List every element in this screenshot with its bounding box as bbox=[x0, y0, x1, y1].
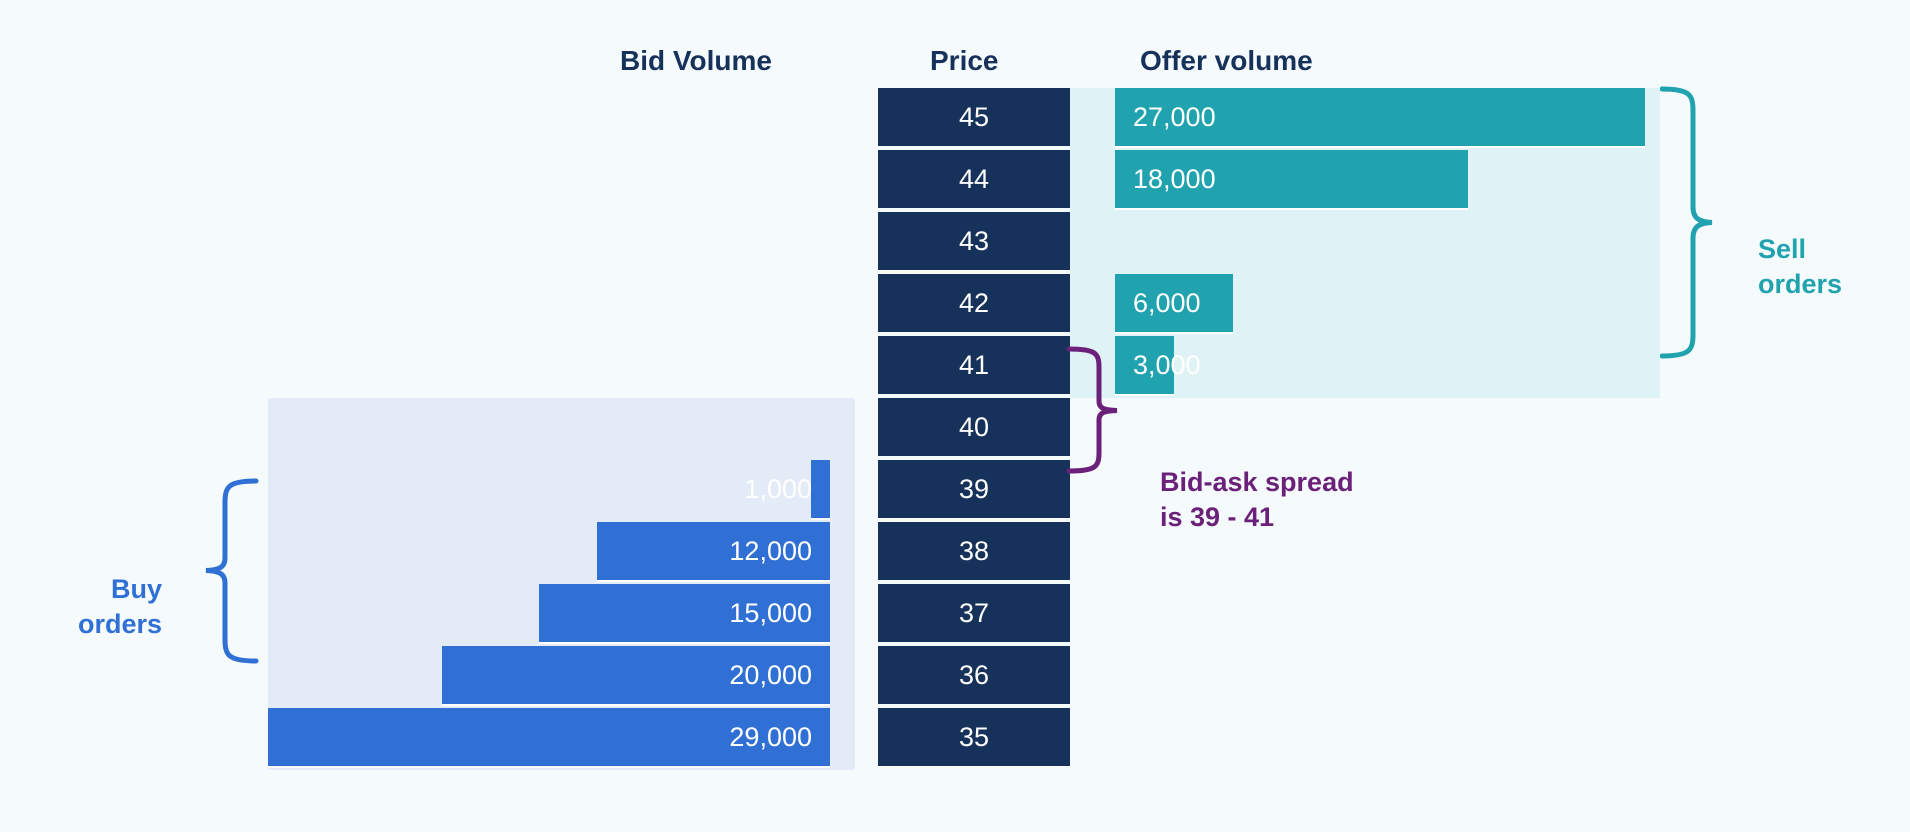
column-header-price: Price bbox=[930, 45, 999, 77]
price-cell[interactable]: 42 bbox=[878, 274, 1070, 334]
price-cell[interactable]: 41 bbox=[878, 336, 1070, 396]
order-book-row: 20,00036 bbox=[0, 646, 1910, 708]
bid-volume-bar: 20,000 bbox=[442, 646, 830, 706]
bid-volume-bar: 29,000 bbox=[268, 708, 830, 768]
price-cell[interactable]: 40 bbox=[878, 398, 1070, 458]
order-book-row: 4418,000 bbox=[0, 150, 1910, 212]
buy-orders-brace bbox=[200, 478, 260, 664]
price-cell[interactable]: 39 bbox=[878, 460, 1070, 520]
price-cell[interactable]: 35 bbox=[878, 708, 1070, 768]
price-cell[interactable]: 37 bbox=[878, 584, 1070, 644]
order-book-row: 413,000 bbox=[0, 336, 1910, 398]
order-book-row: 43 bbox=[0, 212, 1910, 274]
order-book-row: 1,00039 bbox=[0, 460, 1910, 522]
bid-volume-bar: 12,000 bbox=[597, 522, 830, 582]
order-book-row: 12,00038 bbox=[0, 522, 1910, 584]
order-book-row: 40 bbox=[0, 398, 1910, 460]
sell-orders-label: Sell orders bbox=[1758, 232, 1842, 301]
offer-volume-bar: 6,000 bbox=[1115, 274, 1233, 334]
offer-volume-bar: 27,000 bbox=[1115, 88, 1645, 148]
order-book-row: 4527,000 bbox=[0, 88, 1910, 150]
price-cell[interactable]: 43 bbox=[878, 212, 1070, 272]
price-cell[interactable]: 36 bbox=[878, 646, 1070, 706]
buy-orders-label: Buy orders bbox=[52, 572, 162, 641]
price-cell[interactable]: 38 bbox=[878, 522, 1070, 582]
bid-ask-spread-label: Bid-ask spread is 39 - 41 bbox=[1160, 465, 1354, 534]
order-book: 4527,0004418,00043426,000413,000401,0003… bbox=[0, 88, 1910, 770]
bid-ask-spread-brace bbox=[1065, 345, 1175, 475]
sell-orders-brace bbox=[1660, 85, 1720, 360]
offer-volume-bar: 18,000 bbox=[1115, 150, 1468, 210]
order-book-row: 29,00035 bbox=[0, 708, 1910, 770]
bid-volume-bar: 15,000 bbox=[539, 584, 830, 644]
column-header-bid-volume: Bid Volume bbox=[620, 45, 772, 77]
price-cell[interactable]: 45 bbox=[878, 88, 1070, 148]
price-cell[interactable]: 44 bbox=[878, 150, 1070, 210]
order-book-row: 15,00037 bbox=[0, 584, 1910, 646]
bid-volume-bar: 1,000 bbox=[811, 460, 830, 520]
order-book-row: 426,000 bbox=[0, 274, 1910, 336]
column-header-offer-volume: Offer volume bbox=[1140, 45, 1313, 77]
